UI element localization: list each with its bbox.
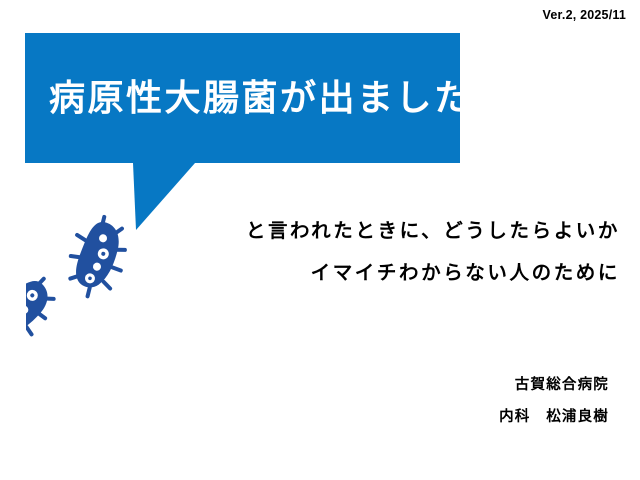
page-title: 病原性大腸菌が出ました [49, 33, 449, 163]
credits-block: 古賀総合病院 内科 松浦良樹 [499, 378, 609, 424]
subtitle-block: と言われたときに、どうしたらよいか イマイチわからない人のために [60, 222, 620, 283]
title-speech-bubble: 病原性大腸菌が出ました [25, 33, 460, 197]
subtitle-line-2: イマイチわからない人のために [60, 264, 620, 284]
version-label: Ver.2, 2025/11 [543, 8, 626, 22]
subtitle-line-1: と言われたときに、どうしたらよいか [60, 222, 620, 242]
credit-author: 内科 松浦良樹 [499, 410, 609, 425]
credit-organization: 古賀総合病院 [499, 378, 609, 393]
title-slide: Ver.2, 2025/11 病原性大腸菌が出ました [0, 0, 640, 480]
